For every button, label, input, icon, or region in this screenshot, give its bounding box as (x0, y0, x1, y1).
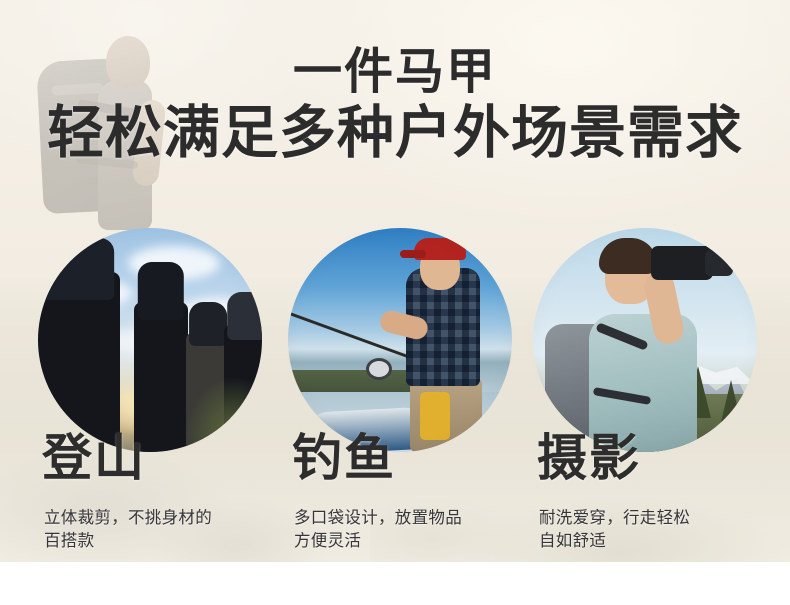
scene-description-line-1: 耐洗爱穿，行走轻松 (539, 506, 777, 529)
scene-label-hiking: 登山 (42, 431, 146, 485)
photo-vignette (288, 228, 512, 452)
scene-card-hiking: 登山 立体裁剪，不挑身材的 百搭款 (38, 228, 288, 562)
scene-label-photography: 摄影 (537, 431, 641, 485)
scene-description-hiking: 立体裁剪，不挑身材的 百搭款 (44, 506, 282, 552)
silhouette-head (106, 36, 150, 88)
photo-vignette (533, 228, 757, 452)
silhouette-torso (98, 80, 152, 230)
scene-description-line-2: 百搭款 (44, 529, 282, 552)
scene-description-line-2: 自如舒适 (539, 529, 777, 552)
page-whitespace (0, 562, 790, 605)
scene-description-line-1: 立体裁剪，不挑身材的 (44, 506, 282, 529)
headline-line-1: 一件马甲 (0, 44, 790, 100)
scene-description-line-1: 多口袋设计，放置物品 (294, 506, 532, 529)
hikers-with-backpacks-photo (38, 228, 262, 452)
scene-card-list: 登山 立体裁剪，不挑身材的 百搭款 钓鱼 (0, 228, 790, 562)
scene-card-photography: 摄影 耐洗爱穿，行走轻松 自如舒适 (533, 228, 783, 562)
scene-description-photography: 耐洗爱穿，行走轻松 自如舒适 (539, 506, 777, 552)
scene-label-fishing: 钓鱼 (292, 431, 396, 485)
product-feature-banner: 一件马甲 轻松满足多种户外场景需求 登山 立体裁剪， (0, 0, 790, 562)
silhouette-strap-upper (78, 99, 137, 118)
photo-vignette (38, 228, 262, 452)
headline-line-2: 轻松满足多种户外场景需求 (0, 100, 790, 166)
headline: 一件马甲 轻松满足多种户外场景需求 (0, 44, 790, 166)
silhouette-arm (132, 99, 167, 187)
scene-description-line-2: 方便灵活 (294, 529, 532, 552)
scene-description-fishing: 多口袋设计，放置物品 方便灵活 (294, 506, 532, 552)
photographer-in-mountains-photo (533, 228, 757, 452)
fisherman-at-lake-photo (288, 228, 512, 452)
silhouette-backpack (36, 58, 130, 214)
scene-card-fishing: 钓鱼 多口袋设计，放置物品 方便灵活 (288, 228, 538, 562)
hiker-silhouette-icon (20, 8, 190, 258)
silhouette-strap-lower (76, 155, 138, 169)
